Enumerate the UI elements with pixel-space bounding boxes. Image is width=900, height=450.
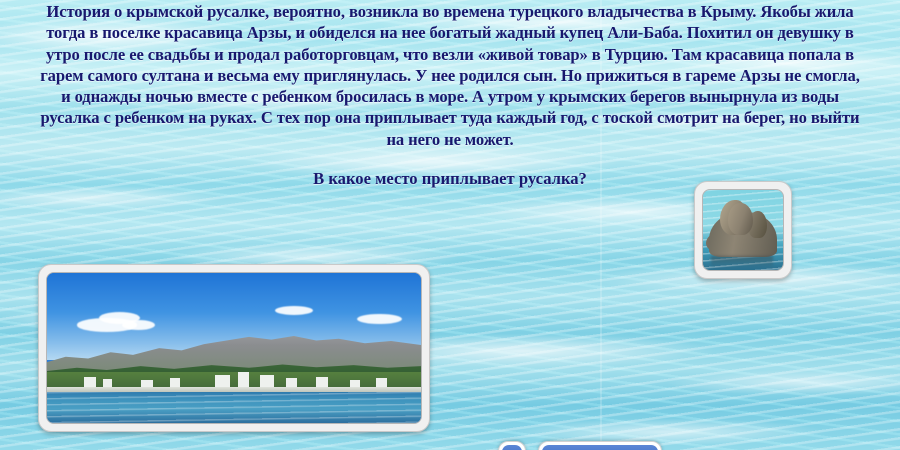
cloud-icon xyxy=(357,314,402,325)
building xyxy=(260,375,273,388)
statue-head xyxy=(728,203,753,235)
mermaid-statue-photo xyxy=(702,189,784,271)
cloud-icon xyxy=(275,306,312,315)
answer-button-1-label xyxy=(502,445,522,450)
statue-photo-frame[interactable] xyxy=(694,181,792,279)
answer-button-2[interactable] xyxy=(538,441,662,450)
cloud-icon xyxy=(122,320,156,331)
building xyxy=(215,375,230,388)
landscape-photo-frame[interactable] xyxy=(38,264,430,432)
sea-water xyxy=(47,392,421,424)
statue-reflection xyxy=(711,256,773,269)
building xyxy=(238,372,249,388)
story-paragraph: История о крымской русалке, вероятно, во… xyxy=(36,1,864,150)
answer-button-2-label xyxy=(542,445,658,450)
answer-button-1[interactable] xyxy=(498,441,526,450)
answer-button-row xyxy=(498,441,720,450)
landscape-photo xyxy=(46,272,422,424)
